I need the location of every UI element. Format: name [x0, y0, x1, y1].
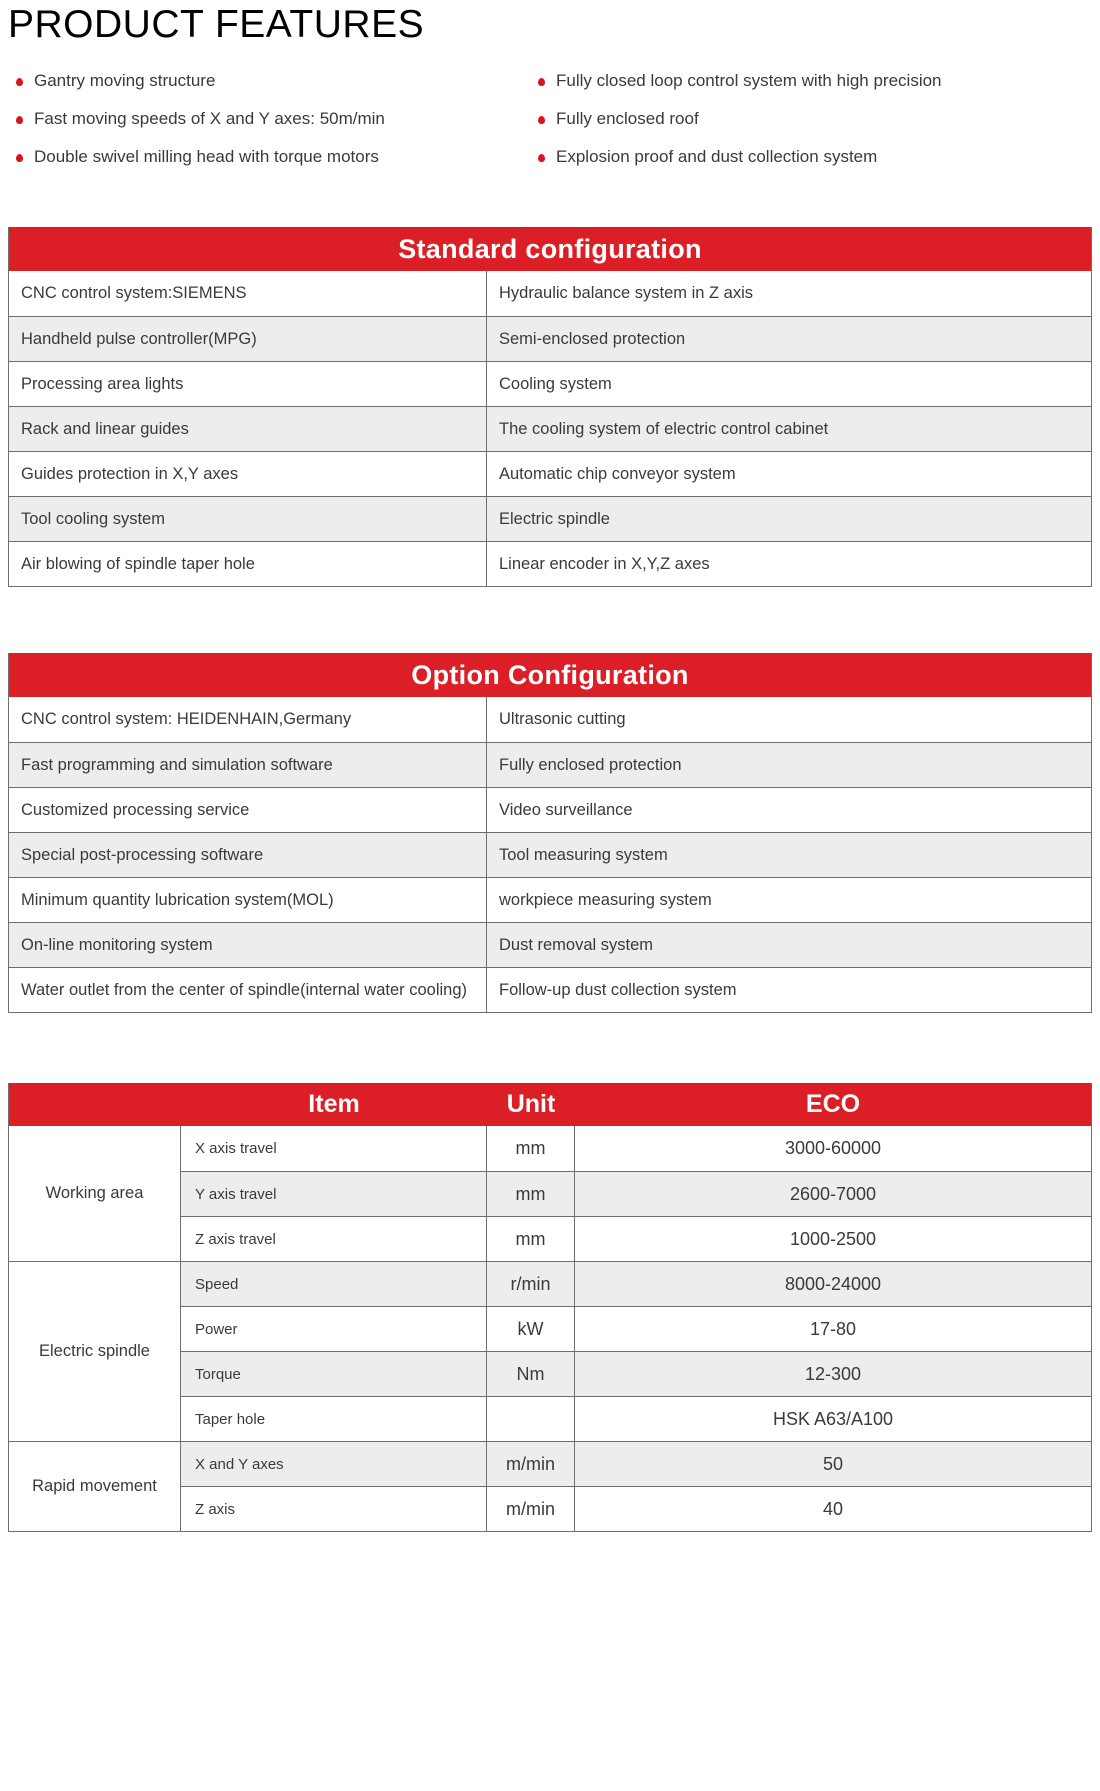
feature-label: Fully closed loop control system with hi… — [556, 71, 942, 90]
config-cell-right: Linear encoder in X,Y,Z axes — [487, 542, 1091, 586]
config-cell-left: Rack and linear guides — [9, 407, 487, 451]
config-cell-left: Tool cooling system — [9, 497, 487, 541]
spec-unit-cell: m/min — [487, 1442, 575, 1486]
feature-label: Gantry moving structure — [34, 71, 215, 90]
bullet-icon — [16, 78, 23, 86]
table-row: TorqueNm12-300 — [181, 1351, 1091, 1396]
config-cell-left: CNC control system:SIEMENS — [9, 271, 487, 316]
table-row: On-line monitoring systemDust removal sy… — [9, 922, 1091, 967]
spec-value-cell: 8000-24000 — [575, 1262, 1091, 1306]
spec-value-cell: 3000-60000 — [575, 1126, 1091, 1171]
feature-label: Fully enclosed roof — [556, 109, 699, 128]
specifications-group-column: Working areaElectric spindleRapid moveme… — [9, 1126, 181, 1531]
config-cell-left: Handheld pulse controller(MPG) — [9, 317, 487, 361]
config-cell-left: Special post-processing software — [9, 833, 487, 877]
specifications-table: Item Unit ECO Working areaElectric spind… — [8, 1083, 1092, 1532]
config-cell-left: Minimum quantity lubrication system(MOL) — [9, 878, 487, 922]
config-cell-left: Customized processing service — [9, 788, 487, 832]
table-row: Speedr/min8000-24000 — [181, 1261, 1091, 1306]
product-features-list: Gantry moving structureFast moving speed… — [0, 62, 1100, 182]
spec-group-label: Working area — [9, 1126, 181, 1261]
spec-group-label: Electric spindle — [9, 1261, 181, 1441]
config-cell-left: Water outlet from the center of spindle(… — [9, 968, 487, 1012]
feature-item: Fully enclosed roof — [530, 100, 1090, 138]
spec-header-item: Item — [181, 1083, 487, 1126]
table-row: CNC control system:SIEMENSHydraulic bala… — [9, 271, 1091, 316]
config-cell-right: Electric spindle — [487, 497, 1091, 541]
spec-unit-cell — [487, 1397, 575, 1441]
spec-group-label: Rapid movement — [9, 1441, 181, 1531]
config-cell-left: On-line monitoring system — [9, 923, 487, 967]
spec-unit-cell: r/min — [487, 1262, 575, 1306]
config-cell-right: Fully enclosed protection — [487, 743, 1091, 787]
spec-unit-cell: kW — [487, 1307, 575, 1351]
table-row: Z axism/min40 — [181, 1486, 1091, 1531]
standard-configuration-body: CNC control system:SIEMENSHydraulic bala… — [9, 271, 1091, 586]
spec-item-cell: Torque — [181, 1352, 487, 1396]
spec-item-cell: Y axis travel — [181, 1172, 487, 1216]
table-row: Rack and linear guidesThe cooling system… — [9, 406, 1091, 451]
spec-value-cell: 50 — [575, 1442, 1091, 1486]
table-row: Y axis travelmm2600-7000 — [181, 1171, 1091, 1216]
feature-item: Fast moving speeds of X and Y axes: 50m/… — [8, 100, 528, 138]
standard-configuration-title: Standard configuration — [9, 227, 1091, 271]
spec-value-cell: 2600-7000 — [575, 1172, 1091, 1216]
config-cell-right: Hydraulic balance system in Z axis — [487, 271, 1091, 316]
spec-value-cell: 40 — [575, 1487, 1091, 1531]
option-configuration-title: Option Configuration — [9, 653, 1091, 697]
config-cell-right: Cooling system — [487, 362, 1091, 406]
spec-item-cell: Power — [181, 1307, 487, 1351]
feature-item: Explosion proof and dust collection syst… — [530, 138, 1090, 176]
config-cell-right: workpiece measuring system — [487, 878, 1091, 922]
table-row: Customized processing serviceVideo surve… — [9, 787, 1091, 832]
bullet-icon — [16, 116, 23, 124]
spec-header-unit: Unit — [487, 1083, 575, 1126]
spec-header-value: ECO — [575, 1083, 1091, 1126]
specifications-body: Working areaElectric spindleRapid moveme… — [9, 1126, 1091, 1531]
feature-label: Fast moving speeds of X and Y axes: 50m/… — [34, 109, 385, 128]
spec-value-cell: 1000-2500 — [575, 1217, 1091, 1261]
config-cell-right: Automatic chip conveyor system — [487, 452, 1091, 496]
feature-item: Gantry moving structure — [8, 62, 528, 100]
spec-item-cell: X axis travel — [181, 1126, 487, 1171]
table-row: Taper holeHSK A63/A100 — [181, 1396, 1091, 1441]
table-row: Handheld pulse controller(MPG)Semi-enclo… — [9, 316, 1091, 361]
table-row: X axis travelmm3000-60000 — [181, 1126, 1091, 1171]
config-cell-right: Follow-up dust collection system — [487, 968, 1091, 1012]
table-row: X and Y axesm/min50 — [181, 1441, 1091, 1486]
config-cell-right: Semi-enclosed protection — [487, 317, 1091, 361]
config-cell-right: Dust removal system — [487, 923, 1091, 967]
option-configuration-body: CNC control system: HEIDENHAIN,GermanyUl… — [9, 697, 1091, 1012]
specifications-rows-column: X axis travelmm3000-60000Y axis travelmm… — [181, 1126, 1091, 1531]
specifications-header-row: Item Unit ECO — [9, 1083, 1091, 1126]
table-row: Water outlet from the center of spindle(… — [9, 967, 1091, 1012]
config-cell-right: Video surveillance — [487, 788, 1091, 832]
features-column-left: Gantry moving structureFast moving speed… — [8, 62, 528, 176]
feature-label: Explosion proof and dust collection syst… — [556, 147, 877, 166]
spec-unit-cell: m/min — [487, 1487, 575, 1531]
bullet-icon — [16, 154, 23, 162]
spec-unit-cell: mm — [487, 1217, 575, 1261]
config-cell-right: Tool measuring system — [487, 833, 1091, 877]
spec-unit-cell: Nm — [487, 1352, 575, 1396]
bullet-icon — [538, 116, 545, 124]
spec-item-cell: Z axis — [181, 1487, 487, 1531]
spec-value-cell: HSK A63/A100 — [575, 1397, 1091, 1441]
config-cell-left: Processing area lights — [9, 362, 487, 406]
config-cell-left: Fast programming and simulation software — [9, 743, 487, 787]
table-row: Z axis travelmm1000-2500 — [181, 1216, 1091, 1261]
spec-item-cell: Speed — [181, 1262, 487, 1306]
spec-unit-cell: mm — [487, 1172, 575, 1216]
bullet-icon — [538, 154, 545, 162]
feature-label: Double swivel milling head with torque m… — [34, 147, 379, 166]
page-title: PRODUCT FEATURES — [8, 2, 424, 48]
features-column-right: Fully closed loop control system with hi… — [530, 62, 1090, 176]
option-configuration-table: Option Configuration CNC control system:… — [8, 653, 1092, 1013]
table-row: Processing area lightsCooling system — [9, 361, 1091, 406]
standard-configuration-table: Standard configuration CNC control syste… — [8, 227, 1092, 587]
table-row: Minimum quantity lubrication system(MOL)… — [9, 877, 1091, 922]
spec-value-cell: 17-80 — [575, 1307, 1091, 1351]
bullet-icon — [538, 78, 545, 86]
table-row: Fast programming and simulation software… — [9, 742, 1091, 787]
config-cell-right: The cooling system of electric control c… — [487, 407, 1091, 451]
spec-item-cell: X and Y axes — [181, 1442, 487, 1486]
table-row: Air blowing of spindle taper holeLinear … — [9, 541, 1091, 586]
table-row: Guides protection in X,Y axesAutomatic c… — [9, 451, 1091, 496]
config-cell-right: Ultrasonic cutting — [487, 697, 1091, 742]
spec-header-group — [9, 1083, 181, 1126]
spec-value-cell: 12-300 — [575, 1352, 1091, 1396]
table-row: CNC control system: HEIDENHAIN,GermanyUl… — [9, 697, 1091, 742]
config-cell-left: CNC control system: HEIDENHAIN,Germany — [9, 697, 487, 742]
config-cell-left: Air blowing of spindle taper hole — [9, 542, 487, 586]
table-row: Special post-processing softwareTool mea… — [9, 832, 1091, 877]
spec-unit-cell: mm — [487, 1126, 575, 1171]
table-row: PowerkW17-80 — [181, 1306, 1091, 1351]
spec-item-cell: Z axis travel — [181, 1217, 487, 1261]
feature-item: Double swivel milling head with torque m… — [8, 138, 528, 176]
config-cell-left: Guides protection in X,Y axes — [9, 452, 487, 496]
table-row: Tool cooling systemElectric spindle — [9, 496, 1091, 541]
feature-item: Fully closed loop control system with hi… — [530, 62, 1090, 100]
spec-item-cell: Taper hole — [181, 1397, 487, 1441]
